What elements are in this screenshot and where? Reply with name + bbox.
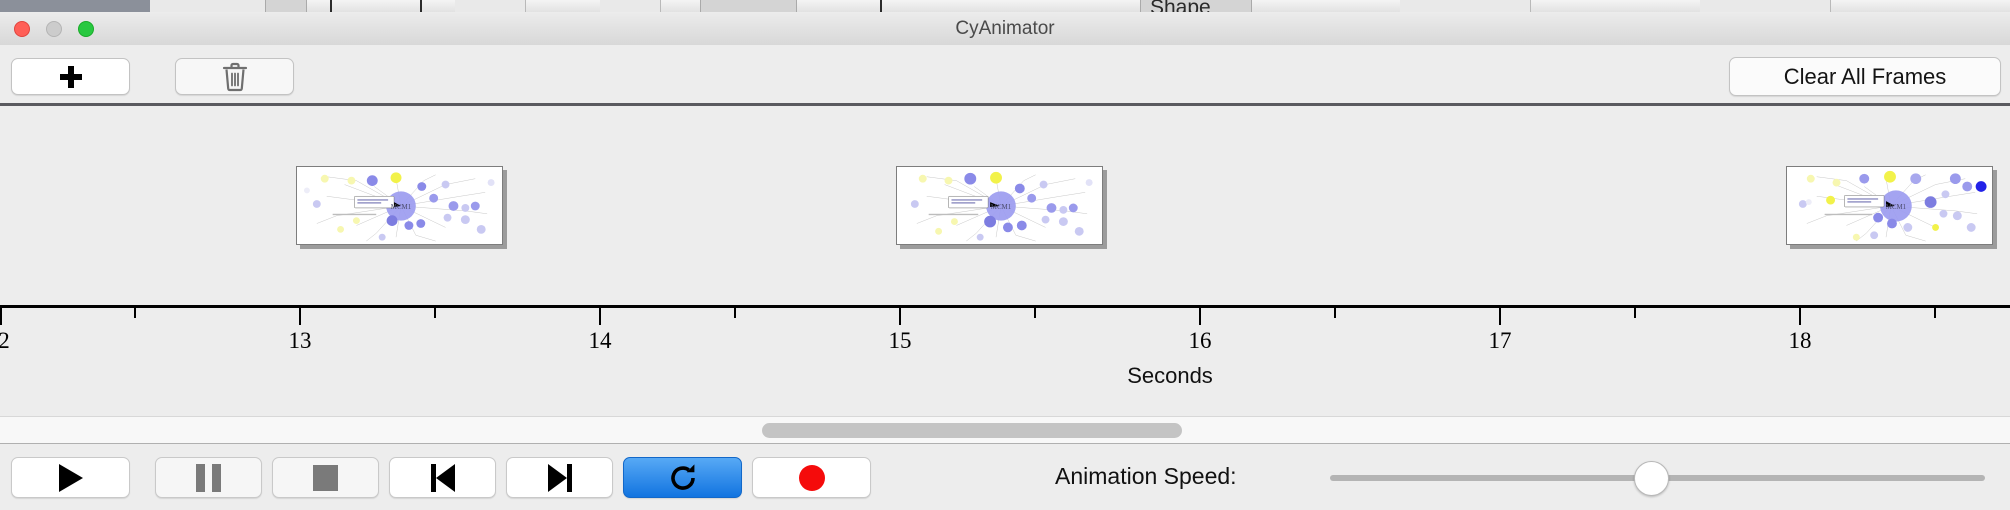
background-window-tick xyxy=(420,0,422,12)
stop-icon xyxy=(313,465,338,491)
record-icon xyxy=(799,465,825,491)
background-window-box xyxy=(265,0,307,12)
background-window-strip: Shape xyxy=(0,0,2010,12)
background-window-dark-panel xyxy=(0,0,150,12)
axis-tick-minor xyxy=(1934,308,1936,318)
timeline-axis: 2 13 14 15 16 17 18 Seconds xyxy=(0,305,2010,416)
background-window-segment xyxy=(455,0,526,12)
delete-frame-button[interactable] xyxy=(175,58,294,95)
play-icon xyxy=(59,464,83,492)
axis-tick-label: 2 xyxy=(0,328,10,354)
title-bar: CyAnimator xyxy=(0,12,2010,46)
axis-tick-label: 13 xyxy=(289,328,312,354)
loop-button[interactable] xyxy=(623,457,742,498)
svg-text:MCM1: MCM1 xyxy=(391,204,412,211)
axis-tick-minor xyxy=(134,308,136,318)
skip-to-start-button[interactable] xyxy=(389,457,496,498)
axis-tick-label: 14 xyxy=(589,328,612,354)
axis-title: Seconds xyxy=(1127,363,1213,389)
cyanimator-window: Shape CyAnimator Clear All Frames xyxy=(0,0,2010,510)
axis-tick-label: 15 xyxy=(889,328,912,354)
skip-start-icon xyxy=(431,464,455,492)
timeline-panel[interactable]: MCM1 xyxy=(0,106,2010,416)
network-thumbnail-image: MCM1 xyxy=(897,167,1102,244)
window-title: CyAnimator xyxy=(0,12,2010,45)
skip-to-end-button[interactable] xyxy=(506,457,613,498)
background-window-segment xyxy=(1700,0,1831,12)
axis-tick-major xyxy=(1199,308,1201,325)
pause-button[interactable] xyxy=(155,457,262,498)
axis-tick-minor xyxy=(1034,308,1036,318)
animation-speed-slider-thumb[interactable] xyxy=(1634,461,1669,496)
axis-tick-minor xyxy=(734,308,736,318)
timeline-scrollbar[interactable] xyxy=(0,416,2010,444)
axis-tick-major xyxy=(0,308,2,325)
axis-tick-minor xyxy=(1634,308,1636,318)
background-window-segment xyxy=(600,0,661,12)
network-thumbnail-image: MCM1 xyxy=(297,167,502,244)
animation-speed-label: Animation Speed: xyxy=(1055,463,1237,490)
background-window-segment xyxy=(150,0,211,12)
toolbar: Clear All Frames xyxy=(0,45,2010,106)
axis-tick-major xyxy=(299,308,301,325)
background-window-segment xyxy=(1400,0,1531,12)
axis-tick-minor xyxy=(434,308,436,318)
network-thumbnail-image: MCM1 xyxy=(1787,167,1992,244)
background-window-tick xyxy=(880,0,882,12)
axis-tick-label: 16 xyxy=(1189,328,1212,354)
axis-tick-label: 18 xyxy=(1789,328,1812,354)
pause-icon xyxy=(196,464,221,492)
background-window-label: Shape xyxy=(1150,0,1211,12)
stop-button[interactable] xyxy=(272,457,379,498)
play-button[interactable] xyxy=(11,457,130,498)
record-button[interactable] xyxy=(752,457,871,498)
background-window-tick xyxy=(330,0,332,12)
trash-icon xyxy=(222,62,248,92)
axis-tick-major xyxy=(1799,308,1801,325)
skip-end-icon xyxy=(548,464,572,492)
axis-tick-minor xyxy=(1334,308,1336,318)
svg-text:MCM1: MCM1 xyxy=(991,204,1012,211)
svg-text:MCM1: MCM1 xyxy=(1886,204,1907,211)
timeline-frame-thumbnail[interactable]: MCM1 xyxy=(896,166,1103,245)
axis-baseline xyxy=(0,305,2010,308)
add-frame-button[interactable] xyxy=(11,58,130,95)
clear-all-frames-label: Clear All Frames xyxy=(1784,64,1947,90)
background-window-box xyxy=(700,0,797,12)
axis-tick-major xyxy=(1499,308,1501,325)
timeline-frame-thumbnail[interactable]: MCM1 xyxy=(296,166,503,245)
playback-control-bar: Animation Speed: xyxy=(0,444,2010,510)
timeline-scrollbar-thumb[interactable] xyxy=(762,423,1182,438)
axis-tick-major xyxy=(599,308,601,325)
axis-tick-major xyxy=(899,308,901,325)
loop-icon xyxy=(667,462,699,494)
background-window-segment xyxy=(210,0,266,12)
plus-icon xyxy=(60,66,82,88)
clear-all-frames-button[interactable]: Clear All Frames xyxy=(1729,57,2001,96)
axis-tick-label: 17 xyxy=(1489,328,1512,354)
timeline-frame-thumbnail[interactable]: MCM1 xyxy=(1786,166,1993,245)
